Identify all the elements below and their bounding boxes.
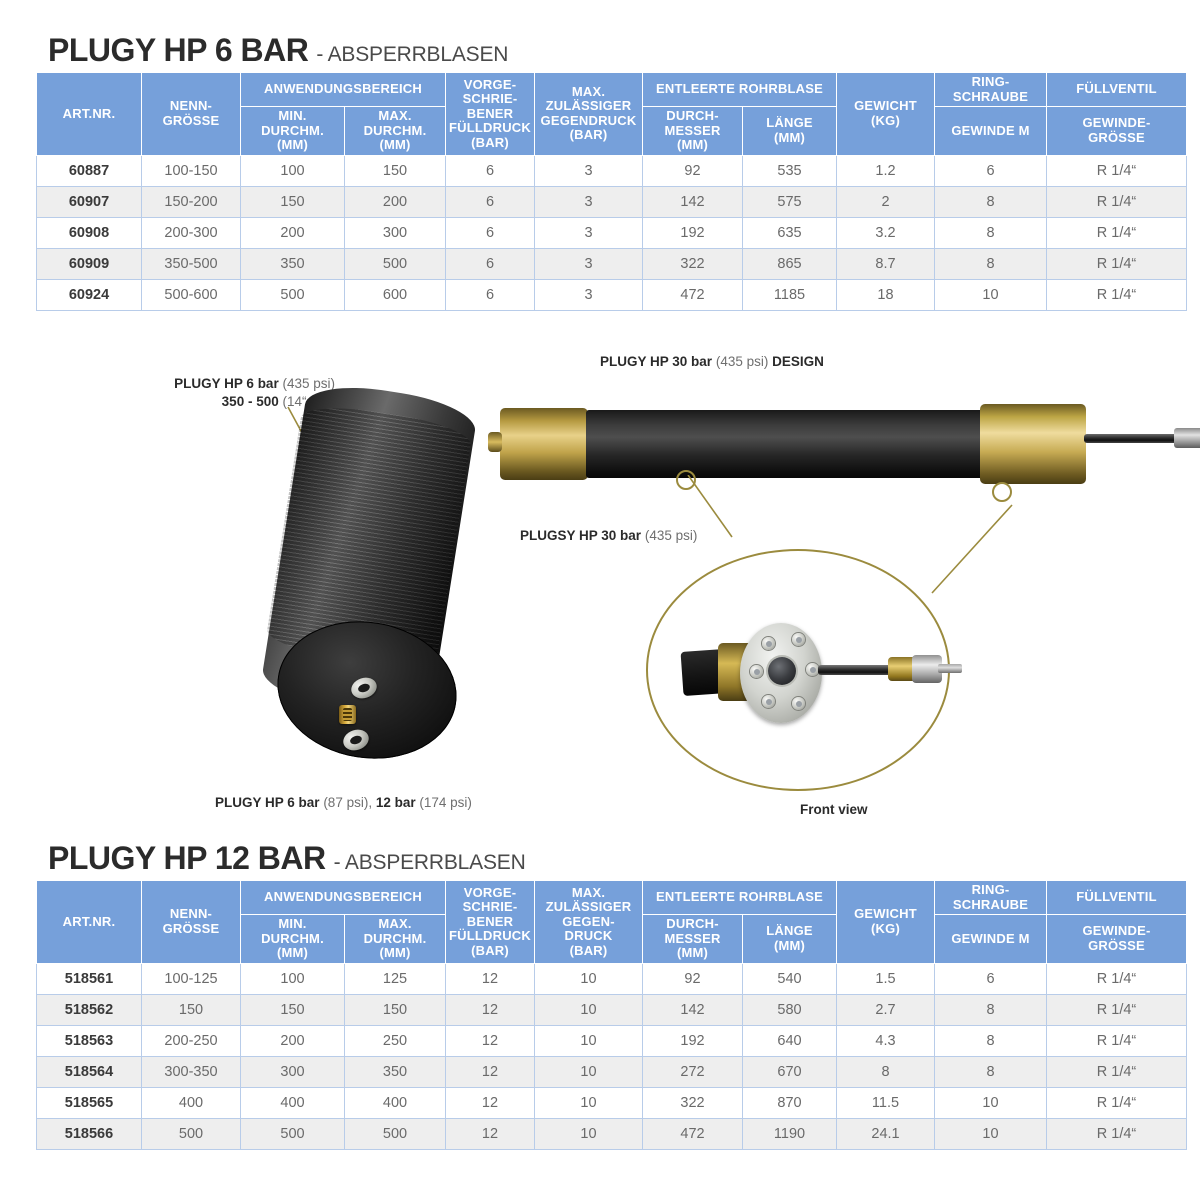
cell-durchmesser: 322 <box>643 248 743 279</box>
section-1-title-sub: - ABSPERRBLASEN <box>316 43 508 67</box>
cell-gegendruck: 3 <box>535 155 643 186</box>
hp-brass-end-left <box>500 408 588 480</box>
cell-durchmesser: 92 <box>643 963 743 994</box>
cell-max: 600 <box>345 279 446 310</box>
section-2-title: PLUGY HP 12 BAR- ABSPERRBLASEN <box>48 840 526 877</box>
cell-min: 100 <box>241 963 345 994</box>
left-plug-label-bold-1: PLUGY HP 6 bar <box>174 376 279 391</box>
cell-fuelldruck: 12 <box>446 963 535 994</box>
cell-max: 200 <box>345 186 446 217</box>
cell-fuelldruck: 12 <box>446 994 535 1025</box>
cell-artnr: 60909 <box>37 248 142 279</box>
th-gegendruck: MAX.ZULÄSSIGERGEGENDRUCK(BAR) <box>535 73 643 156</box>
cell-gewicht: 8.7 <box>837 248 935 279</box>
cell-gewindegroesse: R 1/4“ <box>1047 994 1187 1025</box>
cell-laenge: 670 <box>743 1056 837 1087</box>
th-gewicht: GEWICHT(KG) <box>837 73 935 156</box>
cell-laenge: 640 <box>743 1025 837 1056</box>
cell-max: 500 <box>345 1118 446 1149</box>
hp-30bar-label: PLUGSY HP 30 bar (435 psi) <box>520 527 697 545</box>
th-max-durchm: MAX.DURCHM.(MM) <box>345 915 446 964</box>
cell-max: 250 <box>345 1025 446 1056</box>
cell-laenge: 1190 <box>743 1118 837 1149</box>
cell-nenngroesse: 100-150 <box>142 155 241 186</box>
th-max-durchm: MAX.DURCHM.(MM) <box>345 107 446 156</box>
table-row: 518564300-350300350121027267088R 1/4“ <box>37 1056 1187 1087</box>
th-fuelldruck: VORGE-SCHRIE-BENERFÜLLDRUCK(BAR) <box>446 73 535 156</box>
th-nenngroesse: NENN-GRÖSSE <box>142 73 241 156</box>
cell-laenge: 865 <box>743 248 837 279</box>
cell-laenge: 870 <box>743 1087 837 1118</box>
cell-fuelldruck: 6 <box>446 248 535 279</box>
th-gewinde-m: GEWINDE M <box>935 915 1047 964</box>
cell-durchmesser: 472 <box>643 1118 743 1149</box>
fv-bolt-6 <box>792 697 805 710</box>
cell-laenge: 575 <box>743 186 837 217</box>
cell-durchmesser: 142 <box>643 186 743 217</box>
cell-gewindegroesse: R 1/4“ <box>1047 1025 1187 1056</box>
cell-gewicht: 1.2 <box>837 155 935 186</box>
table-body-12bar: 518561100-1251001251210925401.56R 1/4“51… <box>37 963 1187 1149</box>
left-plug-label-muted-1: (435 psi) <box>282 376 335 391</box>
cell-artnr: 518563 <box>37 1025 142 1056</box>
table-header-row-1: ART.NR. NENN-GRÖSSE ANWENDUNGSBEREICH VO… <box>37 73 1187 107</box>
cell-gegendruck: 10 <box>535 1118 643 1149</box>
th-entleerte-rohrblase: ENTLEERTE ROHRBLASE <box>643 881 837 915</box>
cell-max: 400 <box>345 1087 446 1118</box>
cell-gewicht: 2.7 <box>837 994 935 1025</box>
caption-left-bold-1: PLUGY HP 6 bar <box>215 795 320 810</box>
design-heading-muted: (435 psi) <box>716 354 769 369</box>
caption-front-view: Front view <box>800 802 868 817</box>
cell-artnr: 518566 <box>37 1118 142 1149</box>
cell-artnr: 518561 <box>37 963 142 994</box>
cell-gewindegroesse: R 1/4“ <box>1047 1118 1187 1149</box>
th-fuellventil: FÜLLVENTIL <box>1047 881 1187 915</box>
fv-bolt-2 <box>792 633 805 646</box>
section-2-title-main: PLUGY HP 12 BAR <box>48 840 326 877</box>
cell-gegendruck: 10 <box>535 1087 643 1118</box>
cell-nenngroesse: 500-600 <box>142 279 241 310</box>
cell-nenngroesse: 200-300 <box>142 217 241 248</box>
th-artnr: ART.NR. <box>37 73 142 156</box>
cell-gegendruck: 3 <box>535 217 643 248</box>
th-gewinde-m: GEWINDE M <box>935 107 1047 156</box>
plug-photo-6-12bar <box>255 390 480 780</box>
cell-max: 125 <box>345 963 446 994</box>
cell-gewicht: 1.5 <box>837 963 935 994</box>
cell-gewicht: 4.3 <box>837 1025 935 1056</box>
cell-min: 500 <box>241 279 345 310</box>
cell-gewinde_m: 8 <box>935 248 1047 279</box>
cell-nenngroesse: 100-125 <box>142 963 241 994</box>
design-heading-bold-1: PLUGY HP 30 bar <box>600 354 712 369</box>
cell-fuelldruck: 12 <box>446 1056 535 1087</box>
cell-gewindegroesse: R 1/4“ <box>1047 248 1187 279</box>
cell-gewinde_m: 8 <box>935 1056 1047 1087</box>
cell-max: 500 <box>345 248 446 279</box>
cell-durchmesser: 272 <box>643 1056 743 1087</box>
hp-brass-end-right <box>980 404 1086 484</box>
cell-min: 400 <box>241 1087 345 1118</box>
cell-gegendruck: 3 <box>535 279 643 310</box>
th-durchmesser: DURCH-MESSER(MM) <box>643 107 743 156</box>
design-heading-bold-2: DESIGN <box>772 354 824 369</box>
cell-nenngroesse: 350-500 <box>142 248 241 279</box>
cell-fuelldruck: 6 <box>446 155 535 186</box>
cell-fuelldruck: 12 <box>446 1087 535 1118</box>
th-min-durchm: MIN.DURCHM.(MM) <box>241 915 345 964</box>
cell-nenngroesse: 150 <box>142 994 241 1025</box>
fv-bolt-5 <box>762 695 775 708</box>
cell-artnr: 60907 <box>37 186 142 217</box>
cell-gewindegroesse: R 1/4“ <box>1047 1056 1187 1087</box>
cell-gegendruck: 10 <box>535 1025 643 1056</box>
section-2-title-sub: - ABSPERRBLASEN <box>334 851 526 875</box>
cell-gegendruck: 10 <box>535 994 643 1025</box>
cell-artnr: 518564 <box>37 1056 142 1087</box>
table-row: 518563200-25020025012101926404.38R 1/4“ <box>37 1025 1187 1056</box>
cell-fuelldruck: 6 <box>446 186 535 217</box>
table-row: 518565400400400121032287011.510R 1/4“ <box>37 1087 1187 1118</box>
hp-rubber-body <box>586 410 986 478</box>
cell-durchmesser: 142 <box>643 994 743 1025</box>
section-1-title-main: PLUGY HP 6 BAR <box>48 32 308 69</box>
cell-fuelldruck: 6 <box>446 217 535 248</box>
cell-gegendruck: 10 <box>535 1056 643 1087</box>
cell-artnr: 60924 <box>37 279 142 310</box>
table-row: 518561100-1251001251210925401.56R 1/4“ <box>37 963 1187 994</box>
cell-laenge: 580 <box>743 994 837 1025</box>
cell-gewinde_m: 6 <box>935 155 1047 186</box>
cell-nenngroesse: 500 <box>142 1118 241 1149</box>
catalog-page: PLUGY HP 6 BAR- ABSPERRBLASEN ART.NR. NE… <box>0 0 1200 1200</box>
cell-nenngroesse: 200-250 <box>142 1025 241 1056</box>
cell-durchmesser: 322 <box>643 1087 743 1118</box>
cell-gewicht: 24.1 <box>837 1118 935 1149</box>
cell-durchmesser: 192 <box>643 217 743 248</box>
table-row: 60887100-15010015063925351.26R 1/4“ <box>37 155 1187 186</box>
table-row: 5185665005005001210472119024.110R 1/4“ <box>37 1118 1187 1149</box>
fv-bolt-1 <box>762 637 775 650</box>
th-fuelldruck: VORGE-SCHRIE-BENERFÜLLDRUCK(BAR) <box>446 881 535 964</box>
hp-30bar-label-bold: PLUGSY HP 30 bar <box>520 528 641 543</box>
th-gewicht: GEWICHT(KG) <box>837 881 935 964</box>
cell-nenngroesse: 300-350 <box>142 1056 241 1087</box>
section-1-title: PLUGY HP 6 BAR- ABSPERRBLASEN <box>48 32 508 69</box>
cell-fuelldruck: 6 <box>446 279 535 310</box>
table-row: 60924500-6005006006347211851810R 1/4“ <box>37 279 1187 310</box>
cell-gewindegroesse: R 1/4“ <box>1047 1087 1187 1118</box>
cell-max: 150 <box>345 994 446 1025</box>
th-laenge: LÄNGE(MM) <box>743 915 837 964</box>
cell-durchmesser: 472 <box>643 279 743 310</box>
cell-min: 300 <box>241 1056 345 1087</box>
cell-artnr: 518562 <box>37 994 142 1025</box>
cell-artnr: 518565 <box>37 1087 142 1118</box>
cell-max: 350 <box>345 1056 446 1087</box>
th-gegendruck: MAX.ZULÄSSIGERGEGEN-DRUCK(BAR) <box>535 881 643 964</box>
cell-gewindegroesse: R 1/4“ <box>1047 186 1187 217</box>
cell-gewinde_m: 8 <box>935 994 1047 1025</box>
cell-min: 200 <box>241 1025 345 1056</box>
cell-gewinde_m: 6 <box>935 963 1047 994</box>
spec-table-12bar: ART.NR. NENN-GRÖSSE ANWENDUNGSBEREICH VO… <box>36 880 1187 1150</box>
th-laenge: LÄNGE(MM) <box>743 107 837 156</box>
table-body-6bar: 60887100-15010015063925351.26R 1/4“60907… <box>37 155 1187 310</box>
design-heading: PLUGY HP 30 bar (435 psi) DESIGN <box>600 353 824 371</box>
th-gewindegroesse: GEWINDE-GRÖSSE <box>1047 107 1187 156</box>
cell-gewicht: 2 <box>837 186 935 217</box>
cell-min: 150 <box>241 994 345 1025</box>
cell-gewinde_m: 10 <box>935 1087 1047 1118</box>
cell-gewinde_m: 8 <box>935 186 1047 217</box>
fv-center-hub <box>768 657 796 685</box>
brass-valve <box>339 705 356 724</box>
cell-gewicht: 18 <box>837 279 935 310</box>
cell-gewindegroesse: R 1/4“ <box>1047 217 1187 248</box>
cell-gewindegroesse: R 1/4“ <box>1047 155 1187 186</box>
cell-min: 350 <box>241 248 345 279</box>
th-fuellventil: FÜLLVENTIL <box>1047 73 1187 107</box>
cell-gewinde_m: 8 <box>935 1025 1047 1056</box>
cell-min: 500 <box>241 1118 345 1149</box>
cell-gewicht: 11.5 <box>837 1087 935 1118</box>
caption-left-plug: PLUGY HP 6 bar (87 psi), 12 bar (174 psi… <box>215 795 472 810</box>
cell-gegendruck: 3 <box>535 248 643 279</box>
cell-max: 150 <box>345 155 446 186</box>
table-row: 60907150-2001502006314257528R 1/4“ <box>37 186 1187 217</box>
table-row: 60909350-500350500633228658.78R 1/4“ <box>37 248 1187 279</box>
th-nenngroesse: NENN-GRÖSSE <box>142 881 241 964</box>
th-artnr: ART.NR. <box>37 881 142 964</box>
cell-min: 200 <box>241 217 345 248</box>
cell-gewindegroesse: R 1/4“ <box>1047 279 1187 310</box>
th-anwendungsbereich: ANWENDUNGSBEREICH <box>241 881 446 915</box>
cell-laenge: 540 <box>743 963 837 994</box>
cell-gewinde_m: 10 <box>935 279 1047 310</box>
cell-laenge: 535 <box>743 155 837 186</box>
hp-30bar-label-muted: (435 psi) <box>645 528 698 543</box>
caption-left-muted-1: (87 psi), <box>323 795 372 810</box>
fv-bolt-3 <box>750 665 763 678</box>
cell-nenngroesse: 150-200 <box>142 186 241 217</box>
th-durchmesser: DURCH-MESSER(MM) <box>643 915 743 964</box>
cell-fuelldruck: 12 <box>446 1118 535 1149</box>
spec-table-6bar: ART.NR. NENN-GRÖSSE ANWENDUNGSBEREICH VO… <box>36 72 1187 311</box>
caption-left-bold-2: 12 bar <box>376 795 416 810</box>
cell-gewinde_m: 8 <box>935 217 1047 248</box>
caption-left-muted-2: (174 psi) <box>419 795 472 810</box>
cell-max: 300 <box>345 217 446 248</box>
th-ringschraube: RING-SCHRAUBE <box>935 881 1047 915</box>
cell-min: 100 <box>241 155 345 186</box>
cell-gewinde_m: 10 <box>935 1118 1047 1149</box>
figure-area: PLUGY HP 30 bar (435 psi) DESIGN PLUGY H… <box>0 345 1200 835</box>
cell-gewicht: 3.2 <box>837 217 935 248</box>
th-gewindegroesse: GEWINDE-GRÖSSE <box>1047 915 1187 964</box>
th-min-durchm: MIN.DURCHM.(MM) <box>241 107 345 156</box>
th-ringschraube: RING-SCHRAUBE <box>935 73 1047 107</box>
th-entleerte-rohrblase: ENTLEERTE ROHRBLASE <box>643 73 837 107</box>
th-anwendungsbereich: ANWENDUNGSBEREICH <box>241 73 446 107</box>
cell-gegendruck: 10 <box>535 963 643 994</box>
front-view-detail <box>640 545 960 800</box>
cell-artnr: 60908 <box>37 217 142 248</box>
cell-nenngroesse: 400 <box>142 1087 241 1118</box>
cell-laenge: 1185 <box>743 279 837 310</box>
cell-artnr: 60887 <box>37 155 142 186</box>
hp-fitting-steel <box>1174 428 1200 448</box>
cell-fuelldruck: 12 <box>446 1025 535 1056</box>
fv-connector-tip <box>938 664 962 673</box>
cell-durchmesser: 92 <box>643 155 743 186</box>
table-header-row-1: ART.NR. NENN-GRÖSSE ANWENDUNGSBEREICH VO… <box>37 881 1187 915</box>
cell-gewindegroesse: R 1/4“ <box>1047 963 1187 994</box>
cell-min: 150 <box>241 186 345 217</box>
cell-laenge: 635 <box>743 217 837 248</box>
table-row: 51856215015015012101425802.78R 1/4“ <box>37 994 1187 1025</box>
table-row: 60908200-300200300631926353.28R 1/4“ <box>37 217 1187 248</box>
cell-gegendruck: 3 <box>535 186 643 217</box>
cell-durchmesser: 192 <box>643 1025 743 1056</box>
cell-gewicht: 8 <box>837 1056 935 1087</box>
